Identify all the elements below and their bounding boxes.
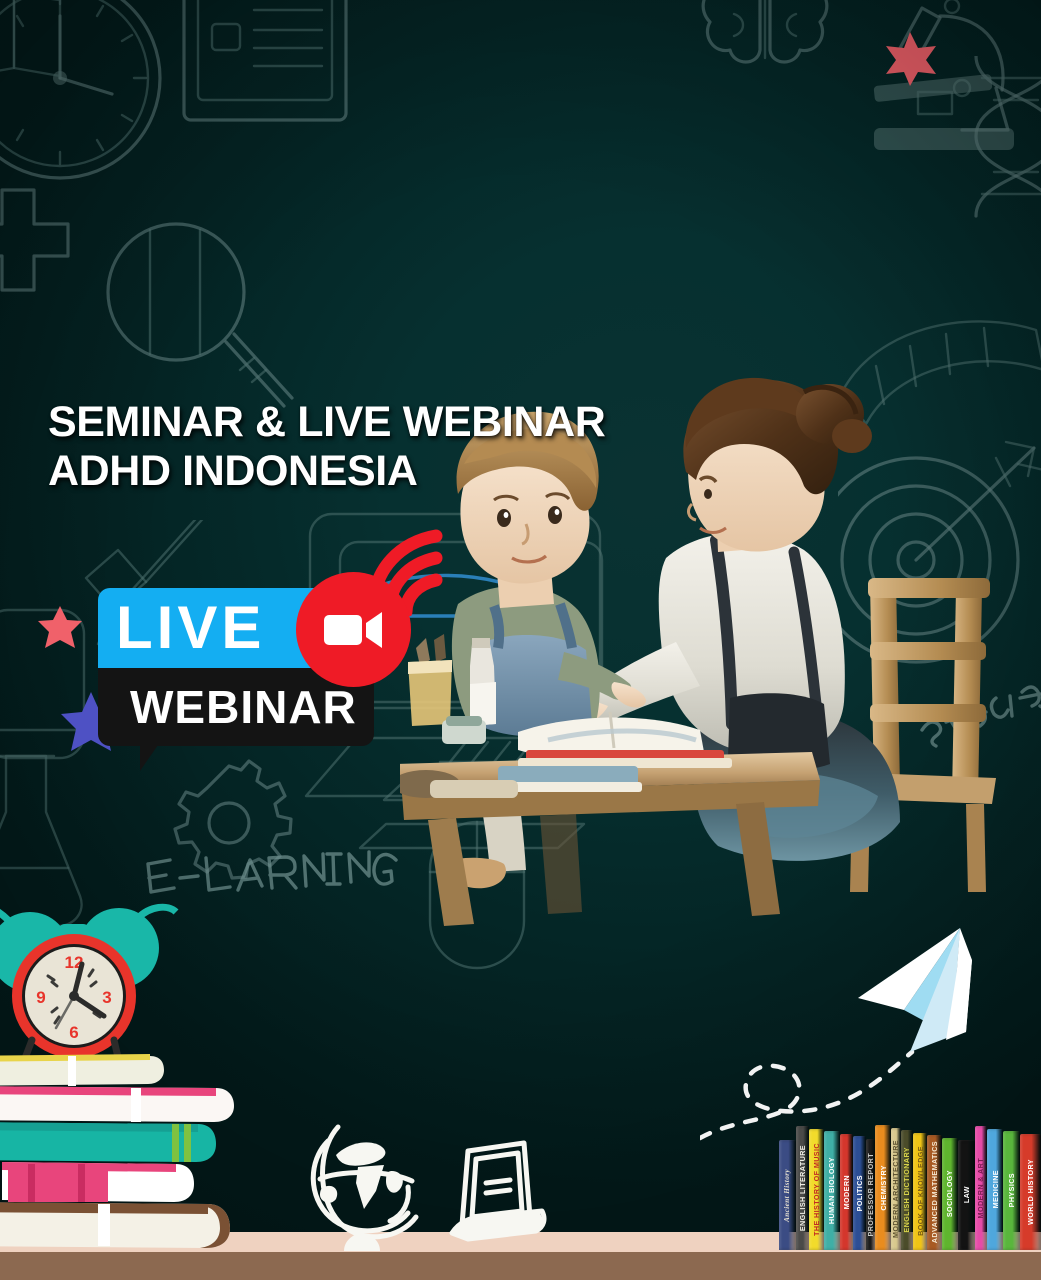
video-camera-icon (324, 611, 384, 649)
book-icon (0, 0, 78, 94)
badge-webinar-label: WEBINAR (98, 684, 357, 730)
book-spine: World History (1020, 1134, 1041, 1250)
svg-text:9: 9 (36, 988, 45, 1007)
book-title: Law (963, 1186, 970, 1203)
book-title: Chemistry (880, 1165, 887, 1211)
book-spine: Law (958, 1140, 975, 1250)
book-spine: The History of Music (809, 1129, 824, 1250)
badge-speech-tail (140, 745, 158, 771)
book-title: Sociology (946, 1170, 953, 1217)
book-spine: English Dictionary (901, 1130, 914, 1250)
book-title: Modern (843, 1175, 850, 1209)
live-webinar-badge[interactable]: LIVE WEBINAR (98, 588, 418, 746)
book-spine: Sociology (942, 1138, 959, 1251)
book-spine: Medicine (987, 1129, 1003, 1250)
poster-canvas: SEMINAR & LIVE WEBINAR ADHD INDONESIA LI… (0, 0, 1041, 1280)
dna-icon (960, 56, 1041, 236)
book-title: Physics (1008, 1173, 1015, 1207)
svg-text:3: 3 (102, 988, 111, 1007)
svg-text:6: 6 (69, 1023, 78, 1042)
book-title: Book of Knowledge (917, 1146, 924, 1236)
book-title: The History of Music (813, 1143, 820, 1236)
book-spine: English Literature (796, 1126, 810, 1250)
book-title: Advanced Mathematics (931, 1141, 938, 1243)
book-title: Modern & Art (977, 1158, 984, 1218)
book-spine: Modern (840, 1134, 853, 1250)
book-spine: Ancient History (779, 1140, 796, 1250)
book-title: English Literature (799, 1145, 806, 1231)
plus-icon (0, 186, 98, 316)
book-title: World History (1027, 1159, 1034, 1225)
badge-live-label: LIVE (98, 598, 265, 658)
book-spine: Professor Report (866, 1139, 876, 1250)
book-title: English Dictionary (903, 1147, 910, 1233)
book-spine: Advanced Mathematics (927, 1135, 942, 1250)
book-title: Medicine (992, 1170, 999, 1208)
book-title: Professor Report (867, 1153, 874, 1236)
book-title: Ancient History (784, 1169, 791, 1222)
book-spine: Physics (1003, 1131, 1020, 1250)
book-title: Human Biology (828, 1157, 835, 1224)
book-spine: Book of Knowledge (913, 1133, 927, 1251)
title-line-2: ADHD INDONESIA (48, 447, 688, 496)
book-spine: Politics (853, 1136, 866, 1250)
poster-title: SEMINAR & LIVE WEBINAR ADHD INDONESIA (48, 398, 688, 496)
title-line-1: SEMINAR & LIVE WEBINAR (48, 398, 688, 447)
video-camera-button[interactable] (296, 572, 411, 687)
globe-icon (300, 1113, 430, 1258)
book-title: Politics (856, 1175, 863, 1211)
clipboard-icon (178, 0, 358, 132)
bookshelf-row: Ancient HistoryEnglish LiteratureThe His… (779, 1125, 1041, 1250)
alarm-clock-and-book-stack: 12 3 6 9 (0, 900, 266, 1280)
book-spine: Modern & Art (975, 1126, 988, 1250)
book-spine: Human Biology (824, 1131, 841, 1250)
brain-icon (672, 0, 862, 96)
tablet-icon (438, 1133, 558, 1258)
book-title: Modern Architecture (892, 1140, 899, 1238)
star-red-icon (36, 604, 84, 652)
book-spine: Modern Architecture (891, 1128, 901, 1251)
magnifier-icon (78, 210, 318, 430)
star-decor-icon (880, 28, 940, 88)
book-spine: Chemistry (875, 1125, 891, 1250)
